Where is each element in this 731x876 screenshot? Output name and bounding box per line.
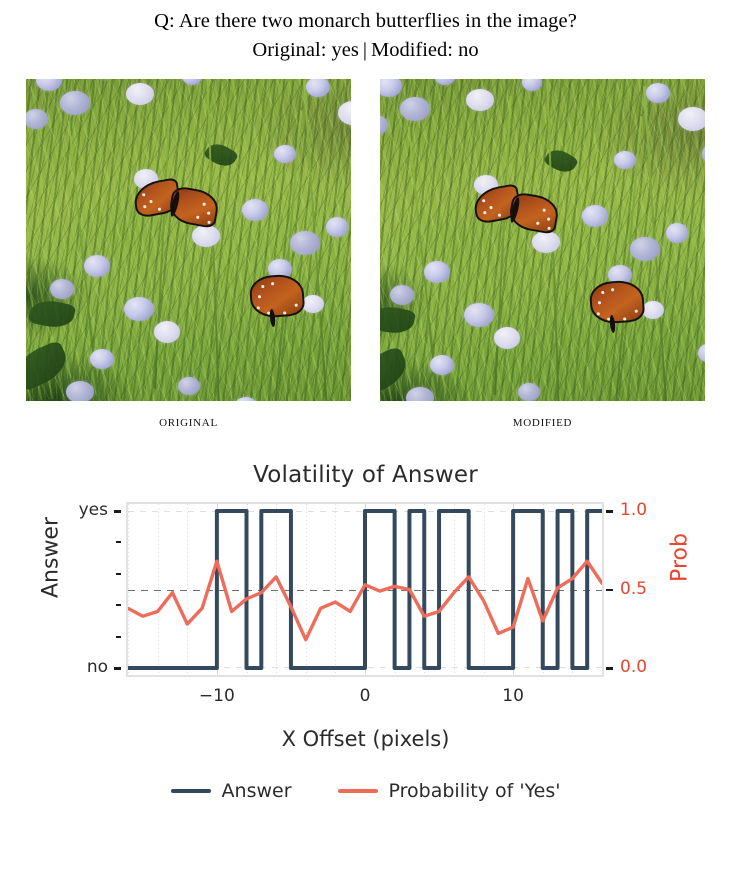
y-tick-label-yes: yes [48,500,108,520]
butterfly-upper [134,177,220,235]
x-tick-label-0: −10 [199,686,235,706]
original-answer: yes [332,39,359,61]
meadow-scene-original [26,79,351,401]
y-tick-label-right-1.0: 1.0 [620,500,647,520]
answer-summary: Original: yes|Modified: no [0,37,731,63]
wing-spot [158,208,161,211]
lavender-flower [50,279,74,299]
butterfly-lower [246,271,318,331]
modified-caption: MODIFIED [380,417,705,429]
lavender-flower [430,355,454,375]
meadow-scene-modified [380,79,705,401]
wing-spot [295,304,298,307]
lavender-flower [60,91,90,115]
lavender-flower [630,237,660,261]
lavender-flower [582,205,608,227]
x-tick-label-2: 10 [502,686,524,706]
y-tick-right-0.0 [606,667,613,670]
wing-spot [261,285,264,288]
lavender-flower [614,151,636,169]
x-tick-label-1: 0 [360,686,371,706]
lavender-flower [678,107,705,131]
wing-spot [149,200,152,203]
lavender-flower [84,255,110,277]
lavender-flower [126,83,154,105]
y-tick-minor [116,636,121,638]
y-axis-label-right: Prob [668,498,693,618]
wing-spot [207,221,210,224]
wing-spot [547,217,550,220]
lavender-flower [178,377,200,395]
y-tick-minor [116,604,121,606]
legend-item-1[interactable]: Probability of 'Yes' [338,780,561,802]
butterfly-lower [586,277,658,337]
original-image-panel [26,79,351,401]
wing-spot [611,288,614,291]
wing-spot [598,301,601,304]
wing-spot [283,311,286,314]
wing-spot [207,211,210,214]
lavender-flower [646,83,670,103]
legend-swatch-icon [171,789,211,793]
chart-canvas [128,504,602,675]
wing-spot [547,227,550,230]
lavender-flower [124,297,154,321]
y-tick-yes [114,510,121,513]
chart-title: Volatility of Answer [0,462,731,488]
wing-spot [258,295,261,298]
lavender-flower [390,285,414,305]
wing-spot [601,291,604,294]
wing-spot [142,193,145,196]
lavender-flower [466,89,494,111]
legend-swatch-icon [338,789,378,793]
butterfly-wing-near [589,279,646,325]
wing-spot [483,211,486,214]
wing-spot [489,206,492,209]
question-text: Q: Are there two monarch butterflies in … [0,8,731,34]
legend-label: Probability of 'Yes' [389,780,561,802]
chart-plot-area [126,502,604,677]
lavender-flower [290,231,320,255]
lavender-flower [464,303,494,327]
legend-item-0[interactable]: Answer [171,780,292,802]
answer-separator: | [359,39,371,61]
wing-spot [271,282,274,285]
lavender-flower [242,199,268,221]
chart-legend: AnswerProbability of 'Yes' [0,780,731,802]
wing-spot [143,205,146,208]
lavender-flower [154,321,180,343]
y-tick-label-right-0.5: 0.5 [620,579,647,599]
lavender-flower [666,223,688,243]
series-svg [128,504,602,675]
lavender-flower [326,217,348,237]
modified-prefix: Modified: [371,39,453,61]
y-tick-minor [116,541,121,543]
butterfly-upper [474,183,560,241]
lavender-flower [90,349,114,369]
modified-image-panel [380,79,705,401]
butterfly-wing-near [249,273,306,319]
y-tick-no [114,667,121,670]
lavender-flower [400,97,430,121]
wing-spot [257,306,260,309]
header: Q: Are there two monarch butterflies in … [0,8,731,63]
wing-spot [482,199,485,202]
wing-spot [202,202,205,205]
y-tick-right-1.0 [606,510,613,513]
original-caption: ORIGINAL [26,417,351,429]
wing-spot [542,208,545,211]
y-tick-label-right-0.0: 0.0 [620,657,647,677]
y-tick-minor [116,573,121,575]
wing-spot [635,310,638,313]
modified-answer: no [458,39,479,61]
lavender-flower [66,381,94,401]
original-prefix: Original: [252,39,326,61]
lavender-flower [494,327,520,349]
lavender-flower [518,383,540,401]
wing-spot [536,222,539,225]
y-tick-right-0.5 [606,589,613,592]
wing-spot [498,214,501,217]
wing-spot [597,312,600,315]
wing-spot [196,216,199,219]
y-tick-label-no: no [48,657,108,677]
legend-label: Answer [222,780,292,802]
wing-spot [623,317,626,320]
lavender-flower [274,145,296,163]
lavender-flower [424,261,450,283]
x-axis-label: X Offset (pixels) [0,727,731,751]
